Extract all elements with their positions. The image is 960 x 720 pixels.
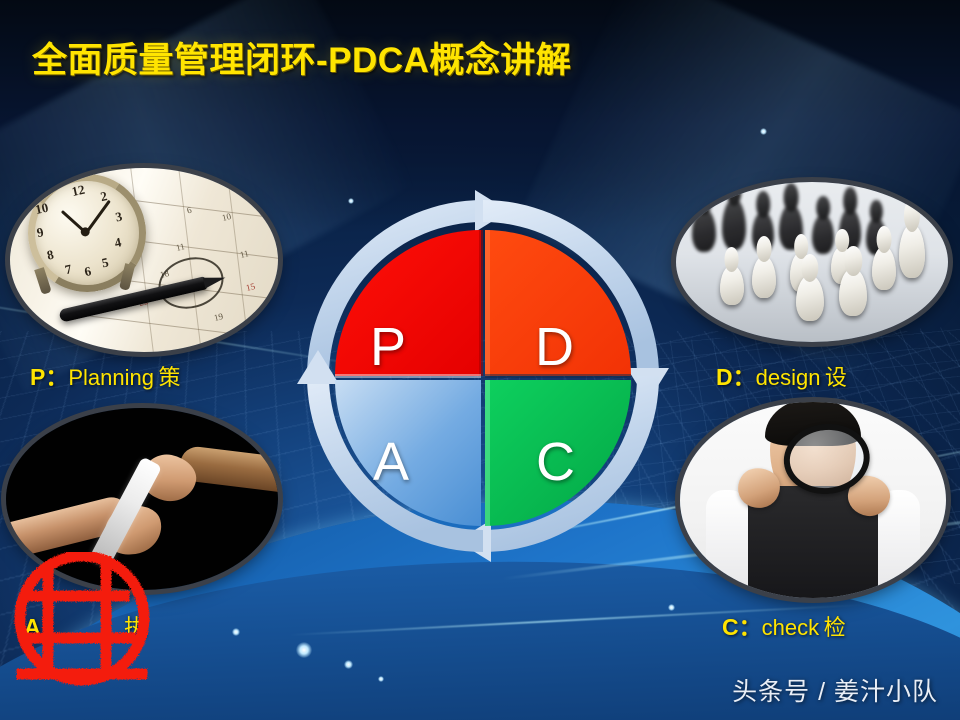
caption-planning: P：Planning 策 — [30, 358, 180, 392]
caption-key: A — [24, 614, 41, 640]
page-title: 全面质量管理闭环-PDCA概念讲解 — [32, 32, 571, 83]
caption-chinese: 执 — [124, 615, 146, 640]
caption-chinese: 策 — [158, 365, 180, 390]
caption-separator: ： — [45, 364, 68, 390]
account-watermark: 头条号 / 姜汁小队 — [732, 672, 938, 708]
pdca-wheel: P D C A — [293, 186, 673, 566]
background-glow-dot — [344, 660, 353, 669]
background-glow-dot — [296, 642, 312, 658]
photo-do — [6, 408, 278, 590]
caption-english: check — [762, 615, 819, 640]
relay-baton-illustration — [6, 408, 278, 590]
caption-check: C：check 检 — [722, 608, 846, 642]
pdca-slide: 全面质量管理闭环-PDCA概念讲解 6 10 11 11 15 22 18 19… — [0, 0, 960, 720]
background-glow-dot — [378, 676, 384, 682]
caption-separator: ： — [41, 614, 64, 640]
background-glow-dot — [232, 628, 240, 636]
chess-illustration — [676, 182, 948, 342]
caption-english: Planning — [68, 365, 154, 390]
magnifier-man-illustration — [680, 402, 946, 598]
caption-chinese: 检 — [824, 615, 846, 640]
caption-key: D — [716, 364, 733, 390]
caption-action: A： 执 — [24, 608, 146, 642]
caption-separator: ： — [733, 364, 756, 390]
background-glow-dot — [760, 128, 767, 135]
caption-key: C — [722, 614, 739, 640]
pdca-quadrants — [335, 230, 631, 526]
caption-english: design — [756, 365, 821, 390]
photo-check — [680, 402, 946, 598]
quadrant-c — [485, 380, 631, 526]
background-glow-dot — [668, 604, 675, 611]
clock-calendar-illustration: 6 10 11 11 15 22 18 19 12 2 3 4 5 6 7 8 … — [10, 168, 278, 352]
caption-chinese: 设 — [825, 365, 847, 390]
caption-design: D：design 设 — [716, 358, 847, 392]
caption-separator: ： — [739, 614, 762, 640]
photo-design — [676, 182, 948, 342]
quadrant-a — [335, 380, 481, 526]
quadrant-d — [485, 230, 631, 376]
quadrant-p — [335, 230, 481, 376]
photo-planning: 6 10 11 11 15 22 18 19 12 2 3 4 5 6 7 8 … — [10, 168, 278, 352]
caption-key: P — [30, 364, 45, 390]
